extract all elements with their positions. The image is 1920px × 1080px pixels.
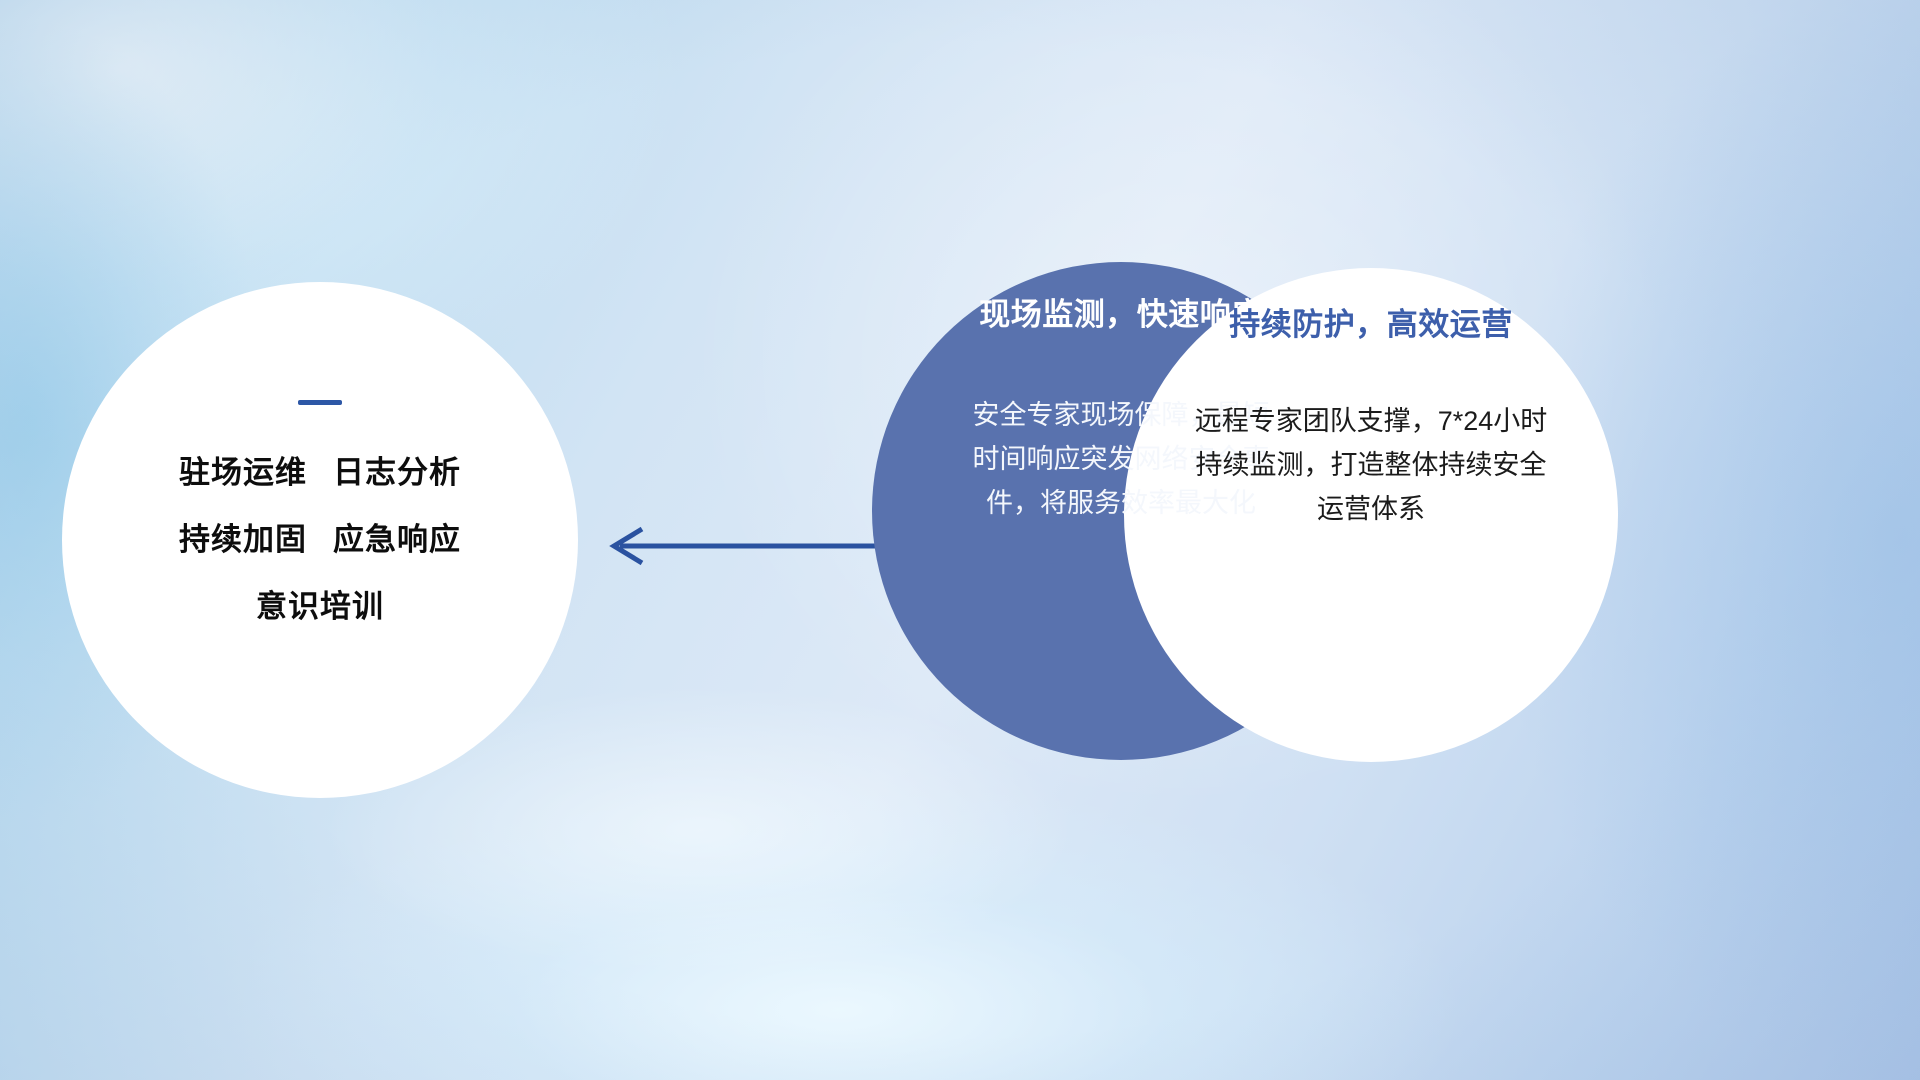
connector-arrow [580,505,910,585]
capability-list: 驻场运维日志分析 持续加固应急响应 意识培训 [179,457,461,622]
right-circle-body: 远程专家团队支撑，7*24小时持续监测，打造整体持续安全运营体系 [1185,400,1557,531]
arrow-icon [614,529,908,563]
capability-item-incident-response: 应急响应 [333,522,461,557]
capability-item-onsite-ops: 驻场运维 [179,455,307,490]
capability-item-awareness-training: 意识培训 [256,589,384,624]
capability-row-2: 持续加固应急响应 [179,524,461,555]
divider-dash [298,400,342,405]
infographic-canvas: 驻场运维日志分析 持续加固应急响应 意识培训 现场监测，快速响应 安全专家现场保… [0,0,1920,1080]
capability-row-3: 意识培训 [179,591,461,622]
capability-circle-left[interactable]: 驻场运维日志分析 持续加固应急响应 意识培训 [62,282,578,798]
right-circle-content: 持续防护，高效运营 远程专家团队支撑，7*24小时持续监测，打造整体持续安全运营… [1124,268,1618,762]
capability-row-1: 驻场运维日志分析 [179,457,461,488]
capability-item-hardening: 持续加固 [179,522,307,557]
capability-item-log-analysis: 日志分析 [333,455,461,490]
right-circle-title: 持续防护，高效运营 [1229,308,1513,342]
